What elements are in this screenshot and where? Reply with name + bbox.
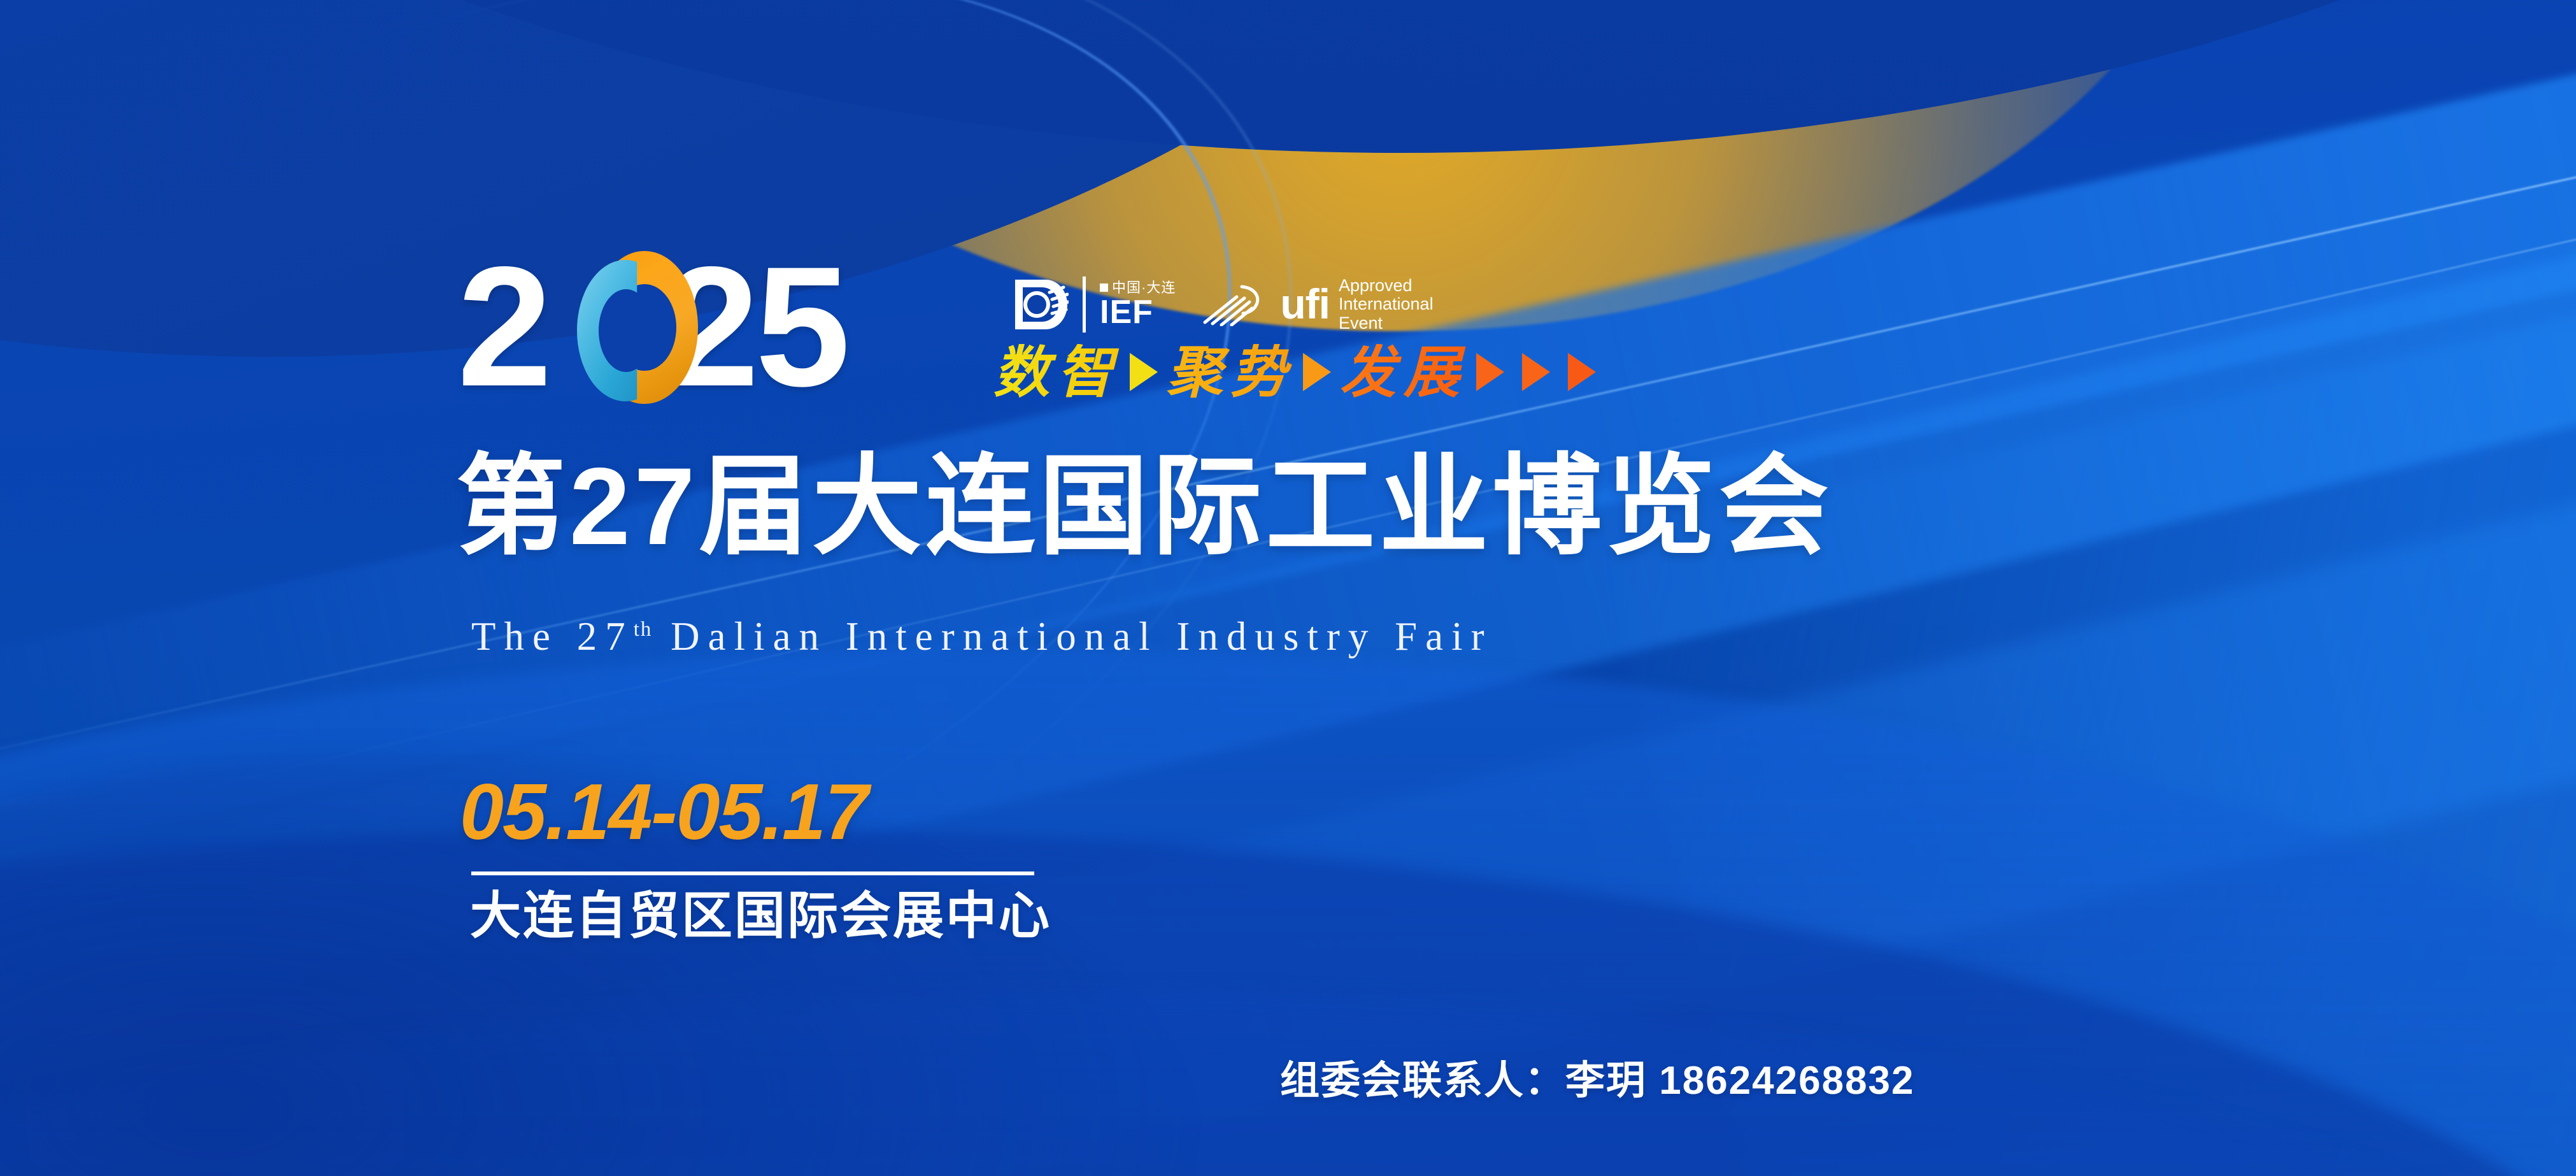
title-en-ordinal-suffix: th [634, 618, 653, 641]
title-en-rest: Dalian International Industry Fair [671, 614, 1493, 659]
ief-divider [1083, 276, 1086, 333]
event-venue: 大连自贸区国际会展中心 [470, 886, 1051, 947]
ief-region-label: 中国·大连 [1100, 281, 1176, 295]
poster-content: 225 [0, 0, 2576, 1176]
slogan-part-1: 数智 [993, 344, 1121, 400]
ufi-swoosh-icon [1202, 280, 1271, 329]
ufi-logo: ufi Approved International Event [1202, 276, 1433, 332]
slogan-arrow-icon-1 [1130, 353, 1158, 391]
event-date: 05.14-05.17 [460, 771, 867, 854]
page-title-english: The 27th Dalian International Industry F… [471, 606, 1493, 659]
ief-name-label: IEF [1100, 297, 1176, 328]
ief-d-mark-icon [1014, 278, 1069, 331]
exhibition-poster: 225 [0, 0, 2576, 1176]
ief-square-icon [1100, 283, 1108, 292]
ief-logo: 中国·大连 IEF [1014, 276, 1176, 333]
slogan-part-2: 聚势 [1167, 344, 1294, 400]
slogan: 数智 聚势 发展 [993, 344, 1605, 400]
ufi-caption: Approved International Event [1339, 276, 1434, 332]
date-venue-divider [471, 871, 1034, 875]
ufi-wordmark: ufi [1280, 285, 1330, 323]
ufi-caption-line-1: Approved [1339, 276, 1434, 295]
year-2025: 225 [457, 241, 846, 412]
title-en-prefix: The 27 [471, 614, 634, 659]
slogan-part-3: 发展 [1340, 344, 1467, 400]
slogan-arrow-icon-2 [1303, 353, 1331, 391]
ufi-caption-line-2: International [1339, 295, 1434, 313]
page-title-chinese: 第27届大连国际工业博览会 [456, 446, 1832, 567]
year-zero-ring-icon [577, 251, 702, 404]
slogan-arrow-icon-5 [1568, 353, 1596, 391]
year-digit-leading: 2 [457, 231, 548, 422]
slogan-arrow-icon-4 [1522, 353, 1550, 391]
year-logo-row: 225 [457, 241, 846, 412]
ufi-caption-line-3: Event [1339, 314, 1434, 333]
organizer-contact: 组委会联系人：李玥 18624268832 [1280, 1058, 1915, 1105]
logo-group: 中国·大连 IEF [1014, 275, 1434, 334]
slogan-arrow-icon-3 [1476, 353, 1504, 391]
